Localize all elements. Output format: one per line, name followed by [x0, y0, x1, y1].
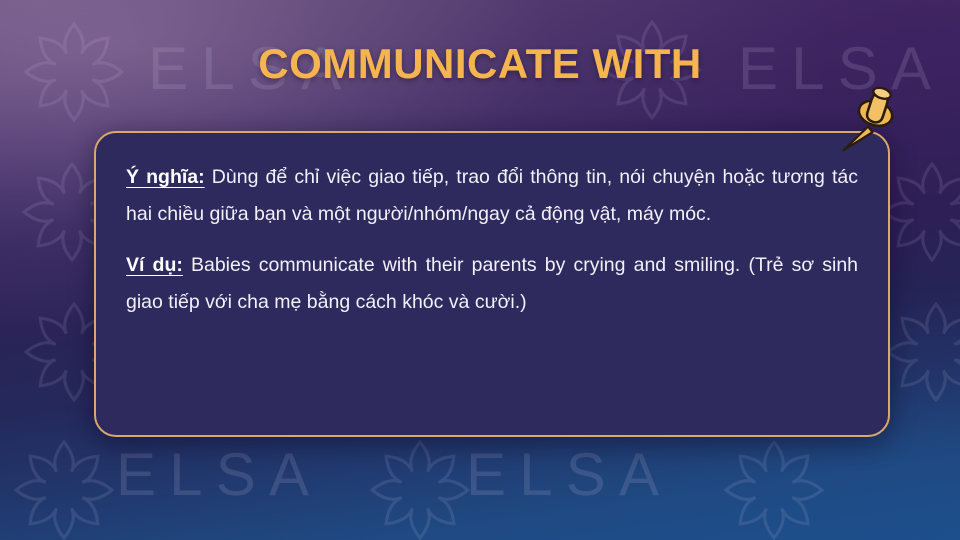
watermark-brand-text: ELSA [116, 440, 322, 509]
elsa-star-flower-icon [880, 160, 960, 264]
watermark-brand-text: ELSA [466, 440, 672, 509]
meaning-paragraph: Ý nghĩa: Dùng để chỉ việc giao tiếp, tra… [126, 159, 858, 234]
meaning-text: Dùng để chỉ việc giao tiếp, trao đổi thô… [126, 166, 858, 225]
pushpin-icon [841, 84, 907, 172]
example-paragraph: Ví dụ: Babies communicate with their par… [126, 247, 858, 322]
example-text: Babies communicate with their parents by… [126, 254, 858, 313]
elsa-star-flower-icon [884, 300, 960, 404]
definition-card: Ý nghĩa: Dùng để chỉ việc giao tiếp, tra… [94, 131, 890, 437]
slide-canvas: ELSAELSAELSAELSA COMMUNICATE WITH Ý nghĩ… [0, 0, 960, 540]
elsa-star-flower-icon [12, 438, 116, 540]
elsa-star-flower-icon [722, 438, 826, 540]
meaning-label: Ý nghĩa: [126, 166, 205, 188]
example-label: Ví dụ: [126, 254, 183, 276]
page-title: COMMUNICATE WITH [0, 40, 960, 88]
elsa-star-flower-icon [368, 438, 472, 540]
